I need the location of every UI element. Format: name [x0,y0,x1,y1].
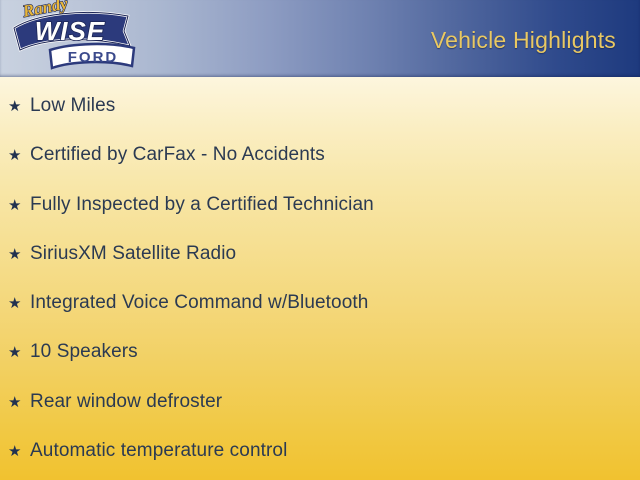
logo-sub-word: FORD [68,49,119,66]
star-icon: ★ [8,392,30,414]
star-icon: ★ [8,96,30,118]
star-icon: ★ [8,244,30,266]
list-item-label: Automatic temperature control [30,440,287,462]
star-icon: ★ [8,195,30,217]
list-item: ★ 10 Speakers [0,341,640,367]
list-item-label: 10 Speakers [30,341,138,363]
list-item: ★ Certified by CarFax - No Accidents [0,144,640,170]
star-icon: ★ [8,342,30,364]
star-icon: ★ [8,441,30,463]
list-item: ★ Low Miles [0,95,640,121]
list-item-label: SiriusXM Satellite Radio [30,243,236,265]
logo-main-word: WISE [35,16,105,46]
list-item-label: Low Miles [30,95,115,117]
vehicle-highlights-list: ★ Low Miles ★ Certified by CarFax - No A… [0,77,640,480]
list-item-label: Rear window defroster [30,391,222,413]
list-item: ★ Automatic temperature control [0,440,640,466]
list-item: ★ Integrated Voice Command w/Bluetooth [0,292,640,318]
randy-wise-ford-logo: WISE Randy FORD [6,0,142,80]
star-icon: ★ [8,293,30,315]
logo-artwork: WISE Randy FORD [6,0,142,80]
header-band: WISE Randy FORD Vehicle Highlights [0,0,640,77]
list-item-label: Integrated Voice Command w/Bluetooth [30,292,368,314]
list-item: ★ SiriusXM Satellite Radio [0,243,640,269]
list-item: ★ Rear window defroster [0,391,640,417]
list-item: ★ Fully Inspected by a Certified Technic… [0,194,640,220]
list-item-label: Certified by CarFax - No Accidents [30,144,325,166]
list-item-label: Fully Inspected by a Certified Technicia… [30,194,374,216]
page-title: Vehicle Highlights [431,27,616,53]
vehicle-highlights-slide: WISE Randy FORD Vehicle Highlights ★ Low… [0,0,640,480]
star-icon: ★ [8,145,30,167]
